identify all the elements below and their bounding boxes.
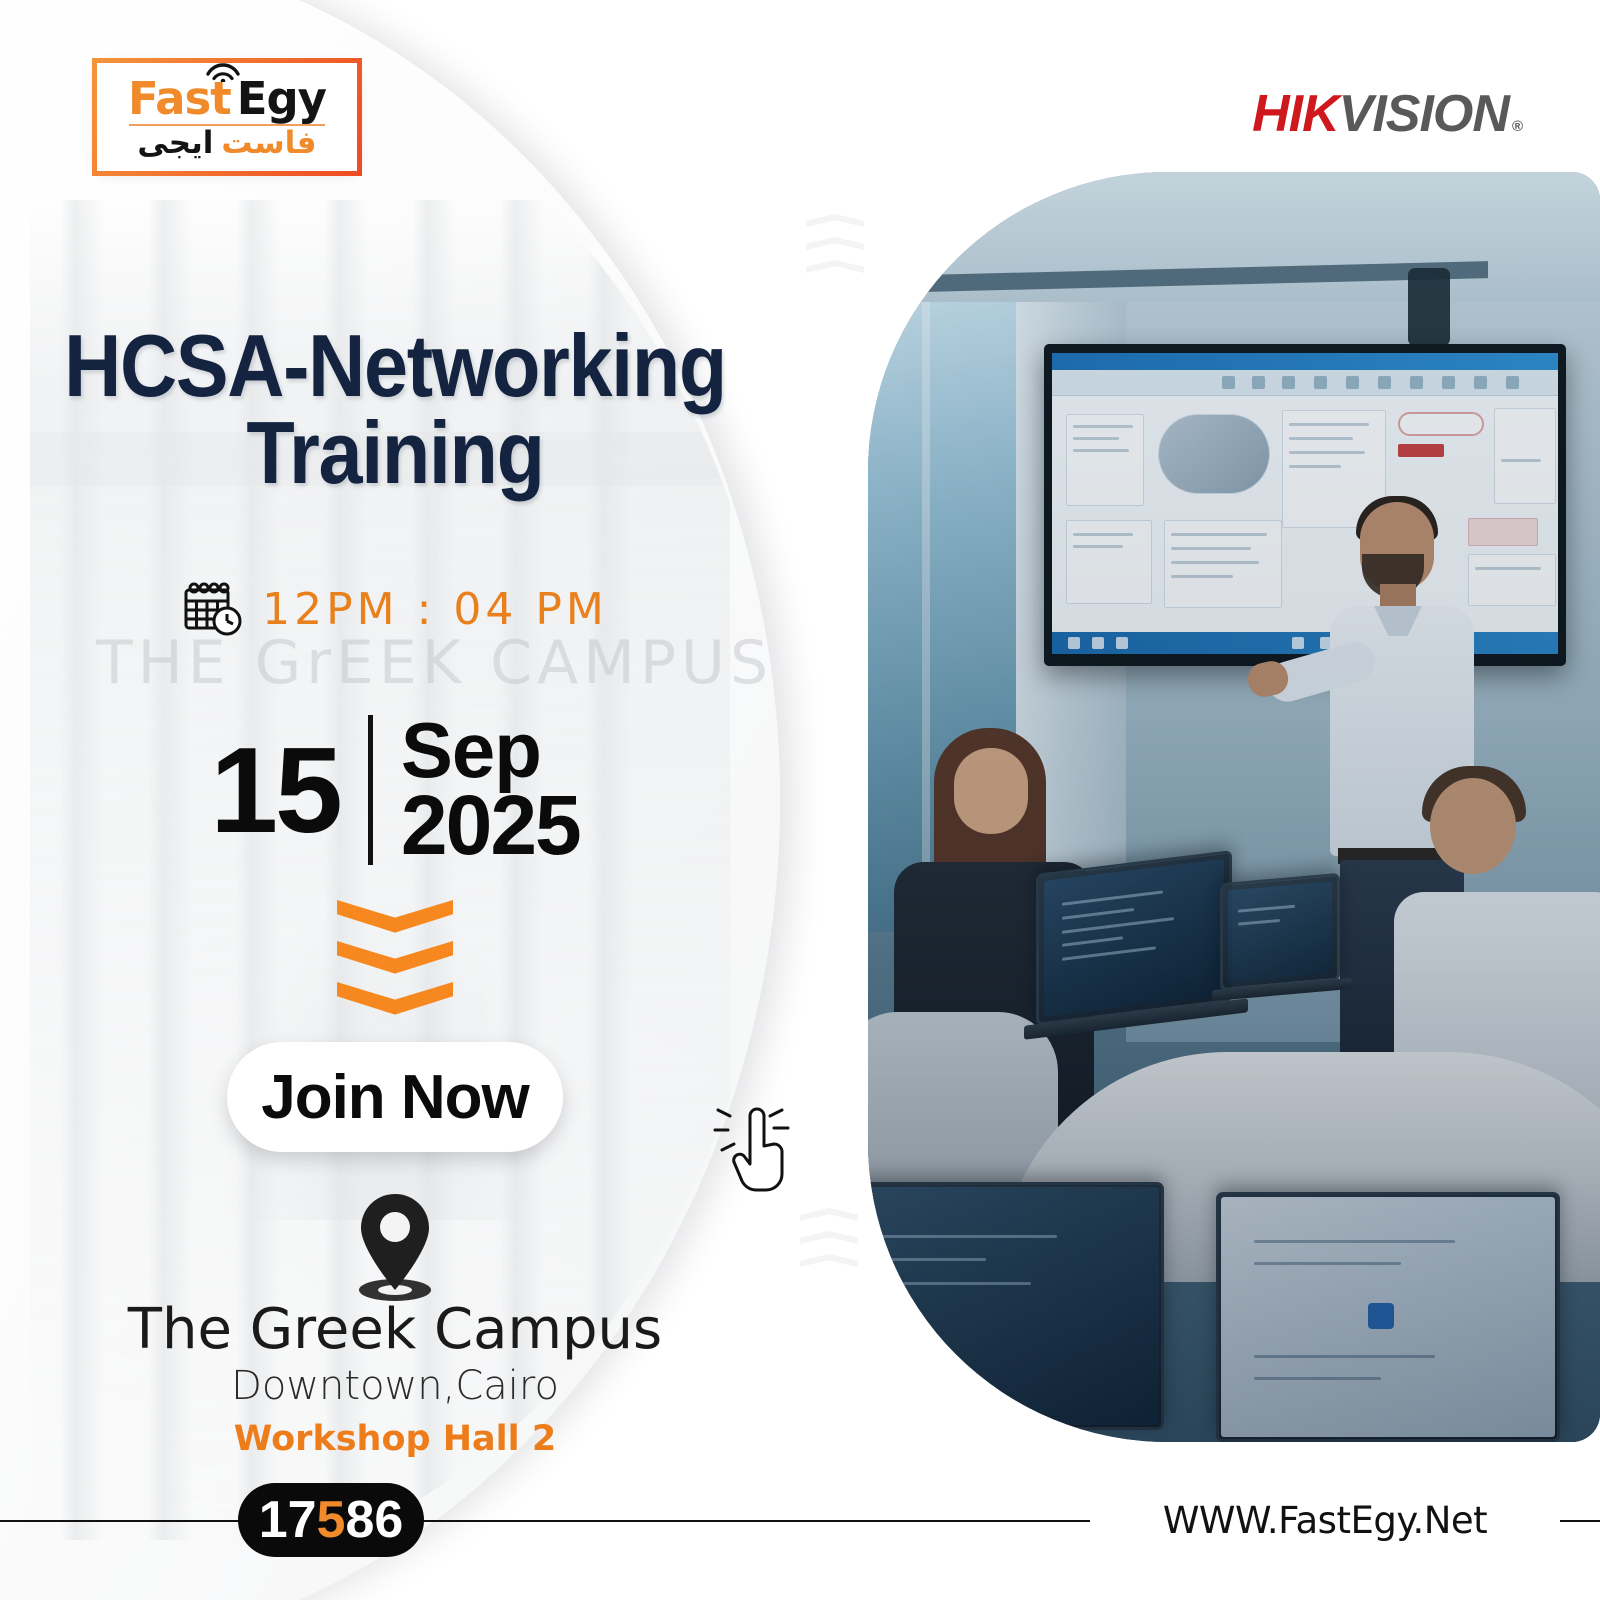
wifi-icon [206,62,240,82]
slide-card [1066,520,1152,604]
logo-arabic-wordmark: فاست ايجى [137,128,316,159]
phone-prefix: 17 [259,1490,317,1550]
attendee-face [954,748,1028,834]
website-area: WWW.FastEgy.Net [1090,1492,1560,1548]
laptop-lid [1216,1192,1560,1442]
laptop-open [1036,862,1232,1014]
logo-arabic-orange: فاست [221,128,316,159]
title-line-1: HCSA-Networking [64,316,726,415]
map-pin-icon [352,1190,438,1302]
hikvision-hik-text: HIK [1252,84,1339,144]
event-photo [868,172,1600,1442]
hikvision-logo: HIKVISION® [1252,84,1522,144]
laptop-foreground-left [868,1182,1164,1430]
photo-scene [868,172,1600,1442]
laptop-screen [868,1187,1159,1425]
laptop-screen [1221,1197,1555,1437]
app-titlebar [1052,353,1558,370]
event-date: 15 Sep 2025 [0,715,790,865]
laptop-screen [1228,881,1332,982]
event-month-year: Sep 2025 [401,715,580,864]
date-divider [368,715,373,865]
attendee-face [1430,778,1516,874]
phone-accent-digit: 5 [317,1490,346,1550]
chevron-up-icon [806,214,864,283]
chevron-up-icon [800,1208,858,1277]
logo-wordmark: Fast Egy [128,76,326,121]
slide-card [1164,520,1282,608]
slide-highlight [1398,444,1444,457]
calendar-clock-icon [182,580,244,638]
logo-egy-text: Egy [237,76,326,121]
laptop-lid [868,1182,1164,1430]
title-line-2: Training [40,409,751,496]
venue-details: The Greek Campus Downtown,Cairo Workshop… [0,1300,790,1459]
laptop-lid [1220,873,1340,991]
logo-arabic-black: ايجى [137,128,213,159]
slide-pill [1398,412,1484,436]
venue-watermark: THE GrEEK CAMPUS [96,628,773,698]
event-time: 12PM : 04 PM [262,584,608,635]
event-month: Sep [401,715,580,787]
event-year: 2025 [401,787,580,864]
venue-pin-area [0,1190,790,1302]
registered-mark: ® [1512,118,1522,135]
logo-fast-text: Fast [128,76,231,121]
poster-canvas: THE GrEEK CAMPUS Fast Egy فاست ايجى HIKV… [0,0,1600,1600]
slide-card [1494,408,1556,504]
website-url[interactable]: WWW.FastEgy.Net [1145,1499,1505,1542]
slide-card [1066,414,1144,506]
venue-hall: Workshop Hall 2 [0,1419,790,1459]
venue-area: Downtown,Cairo [0,1363,790,1409]
event-day: 15 [210,729,340,851]
app-ribbon [1052,370,1558,396]
wall-speaker [1408,268,1450,346]
venue-name: The Greek Campus [0,1300,790,1359]
page-title: HCSA-Networking Training [40,322,751,496]
hikvision-vision-text: VISION [1339,84,1509,144]
chevron-down-icon [0,900,790,1016]
phone-badge[interactable]: 17586 [238,1483,424,1557]
laptop-open [1220,878,1340,986]
slide-image [1158,414,1270,494]
laptop-screen [1044,859,1224,1017]
schedule-time-row: 12PM : 04 PM [0,580,790,638]
fastegy-logo[interactable]: Fast Egy فاست ايجى [92,58,362,176]
cta-area: Join Now [0,1042,790,1152]
join-now-button[interactable]: Join Now [227,1042,563,1152]
pointing-hand-cursor-icon [712,1094,804,1198]
laptop-lid [1036,850,1232,1026]
phone-suffix: 86 [345,1490,403,1550]
laptop-foreground-right [1216,1192,1560,1442]
